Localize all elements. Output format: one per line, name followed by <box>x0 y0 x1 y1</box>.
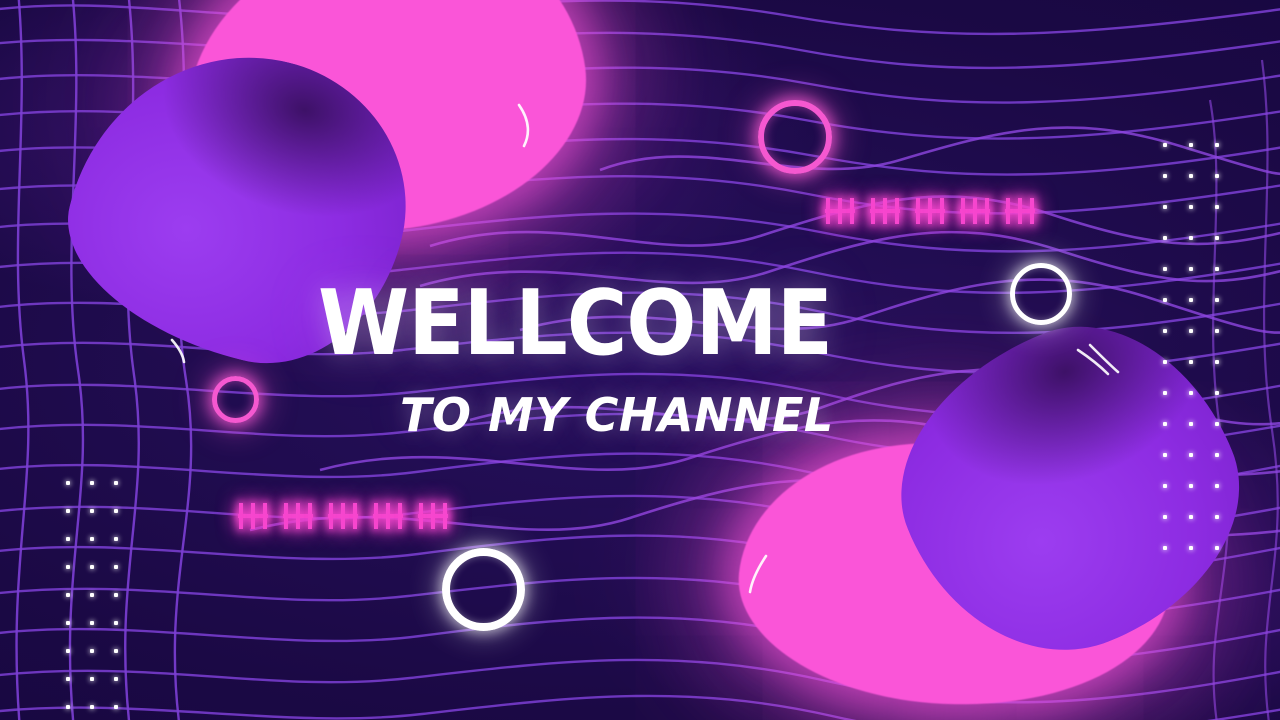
headline-group: WELLCOME TO MY CHANNEL <box>0 0 1280 720</box>
welcome-banner: WELLCOME TO MY CHANNEL <box>0 0 1280 720</box>
page-title: WELLCOME <box>318 279 832 369</box>
page-subtitle: TO MY CHANNEL <box>400 392 834 438</box>
